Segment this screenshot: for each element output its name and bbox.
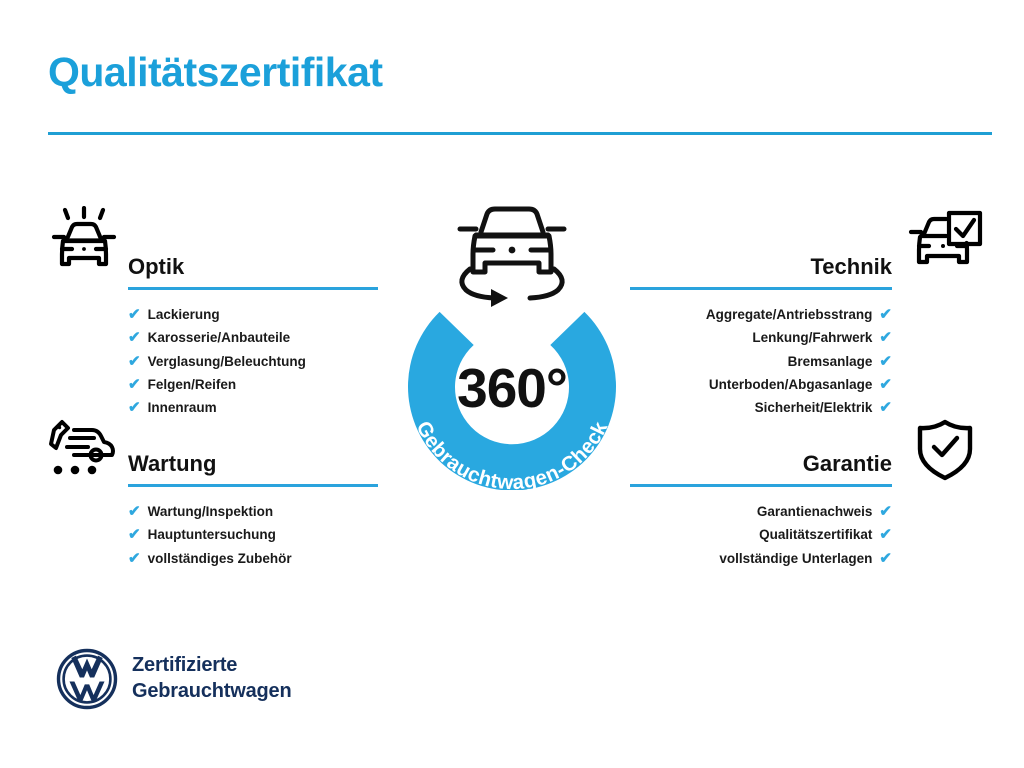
list-item: ✔vollständiges Zubehör bbox=[128, 547, 378, 570]
list-item: Garantienachweis✔ bbox=[630, 500, 892, 523]
shield-check-icon bbox=[912, 418, 978, 487]
list-item-label: Karosserie/Anbauteile bbox=[148, 326, 291, 349]
list-item-label: Qualitätszertifikat bbox=[759, 523, 872, 546]
section-title-optik: Optik bbox=[128, 256, 184, 278]
list-item: ✔Innenraum bbox=[128, 396, 378, 419]
car-rotate-icon bbox=[460, 209, 564, 307]
car-checkbox-icon bbox=[908, 210, 984, 281]
list-item: ✔Karosserie/Anbauteile bbox=[128, 326, 378, 349]
section-title-garantie: Garantie bbox=[803, 453, 892, 475]
check-icon: ✔ bbox=[879, 307, 892, 322]
check-icon: ✔ bbox=[879, 527, 892, 542]
section-optik: Optik ✔Lackierung ✔Karosserie/Anbauteile… bbox=[128, 238, 378, 419]
list-item: ✔Felgen/Reifen bbox=[128, 373, 378, 396]
list-item: ✔Verglasung/Beleuchtung bbox=[128, 350, 378, 373]
section-divider bbox=[630, 287, 892, 290]
footer-brand: Zertifizierte Gebrauchtwagen bbox=[56, 648, 291, 710]
check-icon: ✔ bbox=[128, 377, 141, 392]
list-item-label: vollständige Unterlagen bbox=[719, 547, 872, 570]
list-item-label: Verglasung/Beleuchtung bbox=[148, 350, 306, 373]
list-item-label: Wartung/Inspektion bbox=[148, 500, 274, 523]
list-item: Unterboden/Abgasanlage✔ bbox=[630, 373, 892, 396]
list-item-label: Garantienachweis bbox=[757, 500, 873, 523]
section-divider bbox=[128, 287, 378, 290]
checklist-wartung: ✔Wartung/Inspektion ✔Hauptuntersuchung ✔… bbox=[128, 500, 378, 570]
list-item: ✔Hauptuntersuchung bbox=[128, 523, 378, 546]
check-icon: ✔ bbox=[879, 400, 892, 415]
list-item-label: Innenraum bbox=[148, 396, 217, 419]
check-icon: ✔ bbox=[879, 354, 892, 369]
section-technik: Technik Aggregate/Antriebsstrang✔ Lenkun… bbox=[630, 238, 892, 419]
vw-wordmark-line2: Gebrauchtwagen bbox=[132, 679, 291, 705]
section-header: Wartung bbox=[128, 435, 378, 475]
list-item: vollständige Unterlagen✔ bbox=[630, 547, 892, 570]
check-icon: ✔ bbox=[128, 551, 141, 566]
section-wartung: Wartung ✔Wartung/Inspektion ✔Hauptunters… bbox=[128, 435, 378, 570]
section-garantie: Garantie Garantienachweis✔ Qualitätszert… bbox=[630, 435, 892, 570]
car-shine-icon bbox=[48, 206, 120, 281]
checklist-optik: ✔Lackierung ✔Karosserie/Anbauteile ✔Verg… bbox=[128, 303, 378, 419]
list-item-label: Bremsanlage bbox=[788, 350, 873, 373]
checklist-technik: Aggregate/Antriebsstrang✔ Lenkung/Fahrwe… bbox=[630, 303, 892, 419]
list-item: Sicherheit/Elektrik✔ bbox=[630, 396, 892, 419]
check-icon: ✔ bbox=[128, 504, 141, 519]
check-icon: ✔ bbox=[128, 527, 141, 542]
list-item-label: vollständiges Zubehör bbox=[148, 547, 292, 570]
list-item-label: Unterboden/Abgasanlage bbox=[709, 373, 873, 396]
vw-wordmark-line1: Zertifizierte bbox=[132, 653, 291, 679]
list-item: ✔Wartung/Inspektion bbox=[128, 500, 378, 523]
section-header: Technik bbox=[630, 238, 892, 278]
check-icon: ✔ bbox=[128, 354, 141, 369]
list-item-label: Aggregate/Antriebsstrang bbox=[706, 303, 873, 326]
section-title-technik: Technik bbox=[810, 256, 892, 278]
list-item: Aggregate/Antriebsstrang✔ bbox=[630, 303, 892, 326]
check-icon: ✔ bbox=[128, 400, 141, 415]
list-item-label: Sicherheit/Elektrik bbox=[755, 396, 873, 419]
badge-360-gebrauchtwagen-check: Gebrauchtwagen-Check 360° bbox=[378, 190, 646, 490]
section-divider bbox=[630, 484, 892, 487]
checklist-garantie: Garantienachweis✔ Qualitätszertifikat✔ v… bbox=[630, 500, 892, 570]
check-icon: ✔ bbox=[128, 307, 141, 322]
list-item: Lenkung/Fahrwerk✔ bbox=[630, 326, 892, 349]
check-icon: ✔ bbox=[879, 377, 892, 392]
list-item-label: Hauptuntersuchung bbox=[148, 523, 276, 546]
check-icon: ✔ bbox=[879, 330, 892, 345]
list-item: Qualitätszertifikat✔ bbox=[630, 523, 892, 546]
section-divider bbox=[128, 484, 378, 487]
check-icon: ✔ bbox=[879, 551, 892, 566]
list-item: ✔Lackierung bbox=[128, 303, 378, 326]
wrench-car-icon bbox=[48, 416, 120, 483]
check-icon: ✔ bbox=[879, 504, 892, 519]
section-title-wartung: Wartung bbox=[128, 453, 216, 475]
list-item-label: Lenkung/Fahrwerk bbox=[752, 326, 872, 349]
section-header: Optik bbox=[128, 238, 378, 278]
section-header: Garantie bbox=[630, 435, 892, 475]
title-divider bbox=[48, 132, 992, 135]
page-title: Qualitätszertifikat bbox=[48, 52, 383, 93]
vw-logo bbox=[56, 648, 118, 710]
list-item-label: Felgen/Reifen bbox=[148, 373, 237, 396]
list-item-label: Lackierung bbox=[148, 303, 220, 326]
list-item: Bremsanlage✔ bbox=[630, 350, 892, 373]
vw-wordmark: Zertifizierte Gebrauchtwagen bbox=[132, 653, 291, 704]
check-icon: ✔ bbox=[128, 330, 141, 345]
